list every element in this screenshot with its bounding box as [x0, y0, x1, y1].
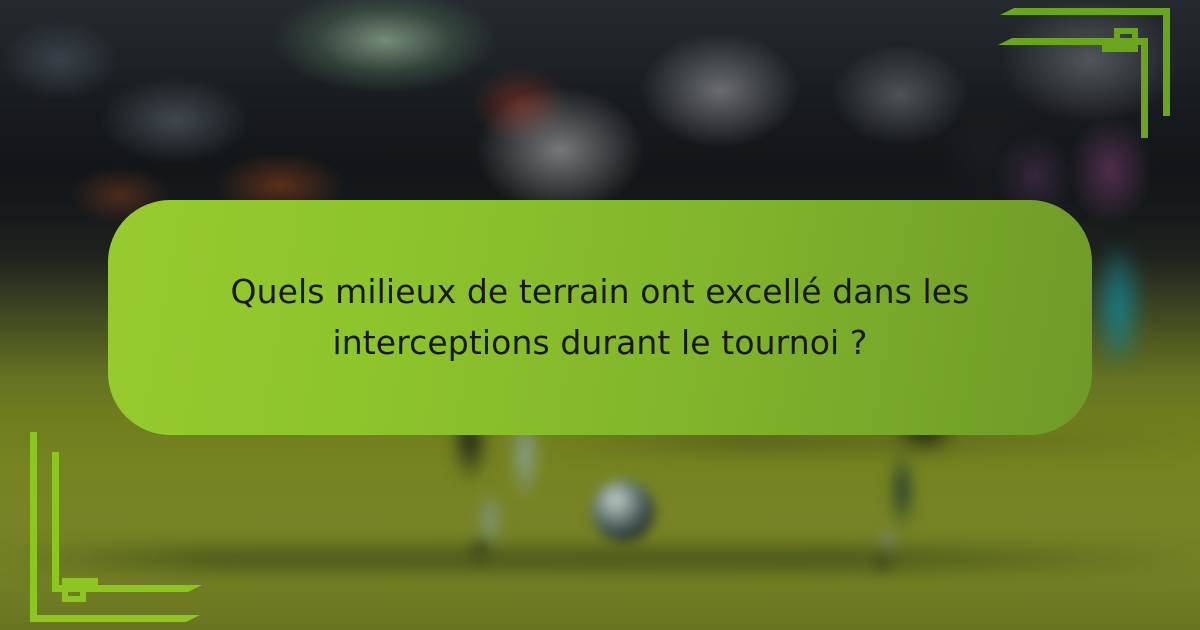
decor-top-right-vertical-outer — [1163, 8, 1170, 116]
decor-top-right-square-icon — [1114, 28, 1138, 52]
decor-top-right-bar-outer — [1000, 8, 1170, 15]
decor-top-right-vertical-inner — [1141, 38, 1148, 138]
decor-bottom-left-square-icon — [62, 578, 86, 602]
question-text: Quels milieux de terrain ont excellé dan… — [220, 267, 980, 367]
decor-bottom-left-bar-outer — [30, 615, 200, 622]
decor-bottom-left-vertical-outer — [30, 432, 37, 622]
share-card-canvas: Quels milieux de terrain ont excellé dan… — [0, 0, 1200, 630]
question-card: Quels milieux de terrain ont excellé dan… — [108, 200, 1092, 435]
decor-bottom-left-vertical-inner — [52, 452, 59, 592]
